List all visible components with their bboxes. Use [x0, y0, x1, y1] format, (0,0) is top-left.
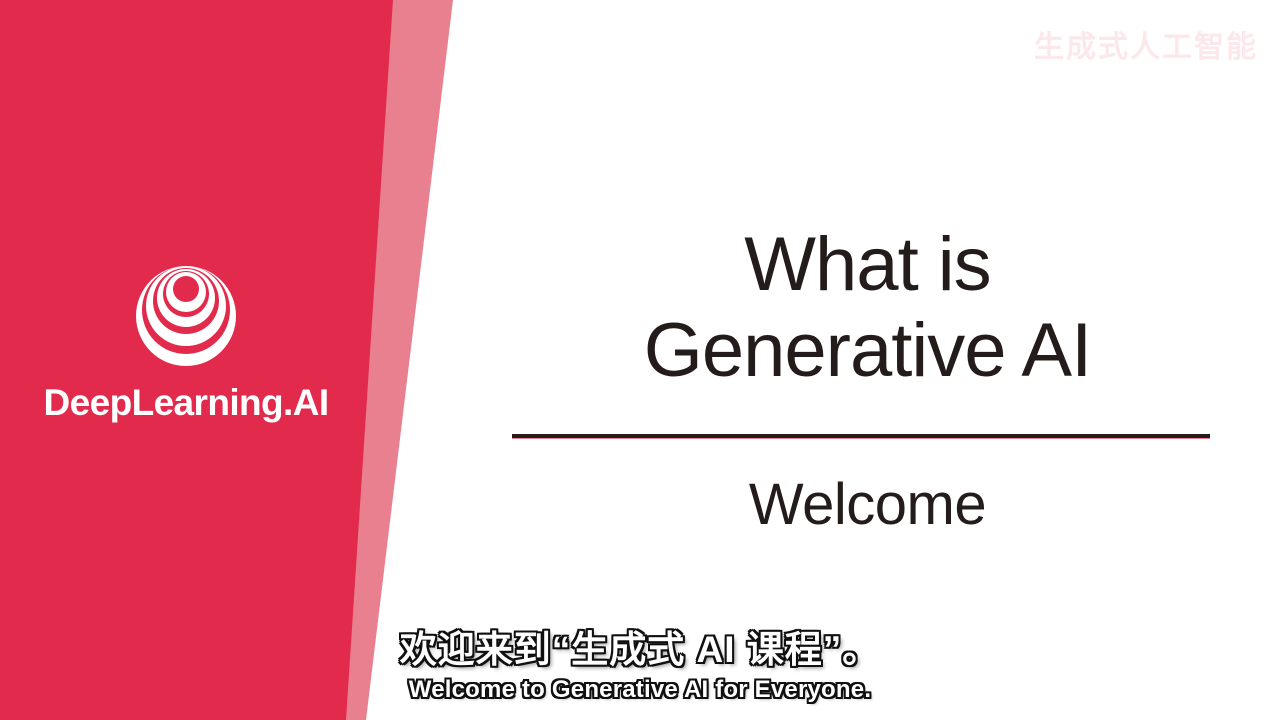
slide-title-line-2: Generative AI — [455, 308, 1280, 394]
slide-main-content: What is Generative AI Welcome — [455, 0, 1280, 720]
caption-chinese: 欢迎来到“生成式 AI 课程”。 — [0, 626, 1280, 674]
slide-subtitle: Welcome — [455, 470, 1280, 540]
brand-block: DeepLearning.AI — [0, 262, 372, 421]
slide-canvas: DeepLearning.AI 生成式人工智能 What is Generati… — [0, 0, 1280, 720]
caption-overlay: 欢迎来到“生成式 AI 课程”。 Welcome to Generative A… — [0, 626, 1280, 706]
slide-title-line-1: What is — [455, 222, 1280, 308]
caption-english: Welcome to Generative AI for Everyone. — [0, 674, 1280, 706]
title-divider-rule — [512, 434, 1210, 439]
brand-wordmark: DeepLearning.AI — [0, 384, 372, 421]
concentric-circles-logo-icon — [134, 262, 238, 366]
slide-title: What is Generative AI — [455, 222, 1280, 394]
